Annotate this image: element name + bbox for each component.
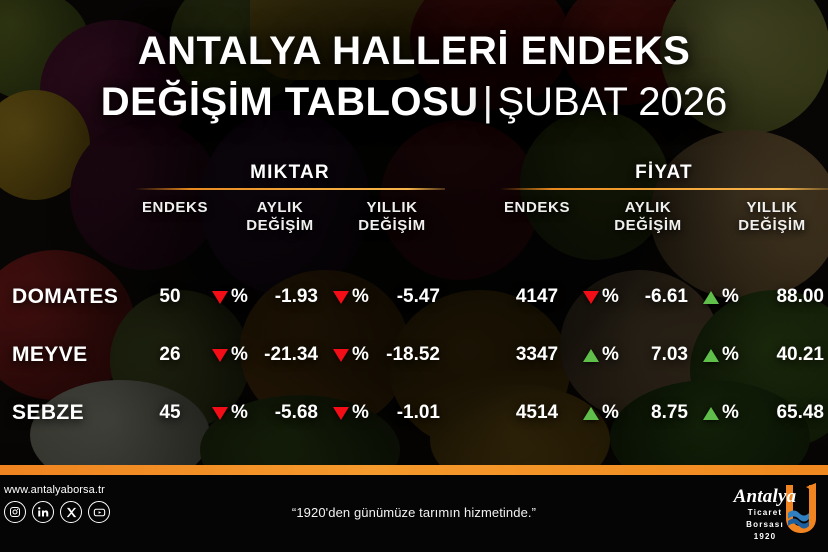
group-rule-miktar — [135, 188, 445, 190]
cell-fiyat-yillik-value: 40.21 — [730, 344, 824, 366]
arrow-down-icon — [333, 349, 349, 362]
group-header-fiyat: FİYAT — [500, 162, 828, 184]
arrow-up-icon — [703, 349, 719, 362]
arrow-up-icon — [703, 407, 719, 420]
arrow-up-icon — [583, 349, 599, 362]
column-header-fiyat-aylik: AYLIK DEĞİŞİM — [598, 199, 698, 234]
cell-fiyat-yillik-value: 65.48 — [730, 402, 824, 424]
cell-miktar-aylik-value: -21.34 — [240, 344, 318, 366]
group-header-miktar: MIKTAR — [135, 162, 445, 184]
cell-miktar-yillik-value: -5.47 — [360, 286, 440, 308]
page-title: ANTALYA HALLERİ ENDEKS DEĞİŞİM TABLOSU|Ş… — [0, 30, 828, 127]
arrow-down-icon — [212, 407, 228, 420]
cell-miktar-aylik-value: -1.93 — [240, 286, 318, 308]
column-header-line1: YILLIK — [366, 199, 417, 216]
cell-fiyat-endeks: 4514 — [498, 402, 576, 424]
cell-miktar-endeks: 45 — [135, 402, 205, 424]
table-row: DOMATES 50 % -1.93 % -5.47 4147 % -6.61 … — [0, 268, 828, 326]
column-header-line1: AYLIK — [257, 199, 304, 216]
column-header-miktar-aylik: AYLIK DEĞİŞİM — [230, 199, 330, 234]
footer-slogan: “1920'den günümüze tarımın hizmetinde.” — [0, 505, 828, 520]
row-label: SEBZE — [12, 401, 84, 425]
logo-subtitle-line-2: Borsası — [728, 520, 802, 530]
logo-text: Antalya Ticaret Borsası 1920 — [728, 487, 802, 542]
column-header-fiyat-yillik: YILLIK DEĞİŞİM — [722, 199, 822, 234]
cell-fiyat-aylik-value: -6.61 — [610, 286, 688, 308]
row-label: MEYVE — [12, 343, 88, 367]
title-main-text: DEĞİŞİM TABLOSU — [101, 80, 479, 124]
group-rule-fiyat — [500, 188, 828, 190]
column-header-line2: DEĞİŞİM — [614, 217, 682, 234]
title-month: ŞUBAT 2026 — [498, 80, 728, 124]
row-label: DOMATES — [12, 285, 118, 309]
cell-miktar-aylik-value: -5.68 — [240, 402, 318, 424]
column-header-line2: DEĞİŞİM — [738, 217, 806, 234]
arrow-down-icon — [333, 407, 349, 420]
table-row: SEBZE 45 % -5.68 % -1.01 4514 % 8.75 % 6… — [0, 384, 828, 442]
logo-subtitle-line-3: 1920 — [728, 532, 802, 542]
column-header-line2: DEĞİŞİM — [246, 217, 314, 234]
cell-miktar-endeks: 50 — [135, 286, 205, 308]
cell-miktar-yillik-value: -1.01 — [360, 402, 440, 424]
column-header-miktar-yillik: YILLIK DEĞİŞİM — [342, 199, 442, 234]
table-row: MEYVE 26 % -21.34 % -18.52 3347 % 7.03 %… — [0, 326, 828, 384]
column-header-line1: AYLIK — [625, 199, 672, 216]
cell-miktar-yillik-value: -18.52 — [360, 344, 440, 366]
column-header-line2: DEĞİŞİM — [358, 217, 426, 234]
arrow-down-icon — [212, 349, 228, 362]
footer: www.antalyaborsa.tr “1920'den günümüze t — [0, 475, 828, 552]
website-url[interactable]: www.antalyaborsa.tr — [4, 484, 105, 496]
arrow-down-icon — [583, 291, 599, 304]
title-line-2: DEĞİŞİM TABLOSU|ŞUBAT 2026 — [0, 78, 828, 127]
cell-fiyat-yillik-value: 88.00 — [730, 286, 824, 308]
cell-fiyat-endeks: 4147 — [498, 286, 576, 308]
arrow-down-icon — [333, 291, 349, 304]
logo-name: Antalya — [728, 487, 802, 506]
arrow-up-icon — [583, 407, 599, 420]
arrow-up-icon — [703, 291, 719, 304]
arrow-down-icon — [212, 291, 228, 304]
logo-subtitle-line-1: Ticaret — [728, 508, 802, 518]
title-line-1: ANTALYA HALLERİ ENDEKS — [0, 30, 828, 72]
column-header-fiyat-endeks: ENDEKS — [492, 199, 582, 217]
cell-fiyat-aylik-value: 7.03 — [610, 344, 688, 366]
cell-fiyat-endeks: 3347 — [498, 344, 576, 366]
cell-miktar-endeks: 26 — [135, 344, 205, 366]
column-header-miktar-endeks: ENDEKS — [130, 199, 220, 217]
column-header-line1: YILLIK — [746, 199, 797, 216]
antalya-ticaret-borsasi-logo: Antalya Ticaret Borsası 1920 — [726, 481, 822, 545]
footer-accent-bar — [0, 465, 828, 475]
title-separator: | — [483, 80, 494, 124]
cell-fiyat-aylik-value: 8.75 — [610, 402, 688, 424]
index-change-table: MIKTAR FİYAT ENDEKS AYLIK DEĞİŞİM YILLIK… — [0, 155, 828, 455]
